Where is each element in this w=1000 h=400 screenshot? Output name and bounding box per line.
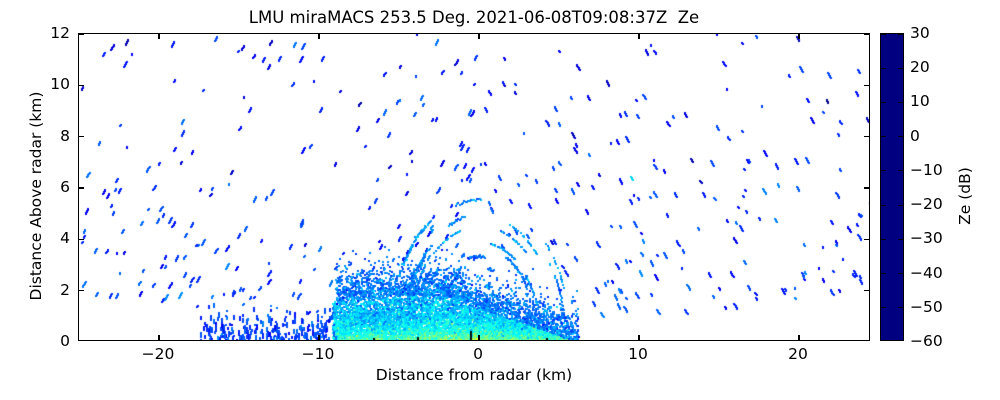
plot-area (78, 33, 870, 341)
y-axis-label: Distance Above radar (km) (27, 42, 45, 350)
x-axis-label: Distance from radar (km) (78, 366, 870, 384)
x-tick-mark (158, 34, 159, 39)
x-tick-mark (798, 34, 799, 39)
colorbar-tick-label: −40 (910, 264, 943, 282)
x-tick-label: −20 (142, 345, 175, 363)
colorbar-label: Ze (dB) (956, 42, 974, 350)
x-tick-mark (638, 335, 639, 340)
y-tick-mark (79, 187, 84, 188)
colorbar-tick-mark (881, 239, 886, 240)
colorbar-tick-mark (898, 273, 903, 274)
colorbar-tick-mark (898, 239, 903, 240)
colorbar-tick-mark (898, 307, 903, 308)
colorbar-tick-label: −60 (910, 332, 943, 350)
colorbar-tick-mark (881, 273, 886, 274)
y-tick-mark (79, 136, 84, 137)
colorbar-tick-mark (881, 136, 886, 137)
colorbar-tick-mark (898, 102, 903, 103)
colorbar-tick-mark (881, 68, 886, 69)
colorbar-tick-label: 20 (910, 58, 930, 76)
y-tick-mark (864, 187, 869, 188)
colorbar-tick-label: −20 (910, 195, 943, 213)
y-tick-label: 8 (60, 127, 70, 145)
colorbar-gradient (881, 34, 903, 340)
colorbar-tick-mark (898, 205, 903, 206)
x-tick-mark (318, 34, 319, 39)
colorbar-tick-label: 10 (910, 92, 930, 110)
y-tick-label: 6 (60, 178, 70, 196)
y-tick-label: 10 (50, 75, 70, 93)
x-tick-mark (318, 335, 319, 340)
y-tick-mark (864, 290, 869, 291)
x-tick-label: −10 (302, 345, 335, 363)
colorbar-tick-mark (898, 68, 903, 69)
x-tick-label: 20 (788, 345, 808, 363)
y-tick-mark (79, 290, 84, 291)
colorbar-tick-label: −50 (910, 298, 943, 316)
colorbar-tick-mark (898, 34, 903, 35)
radar-figure: LMU miraMACS 253.5 Deg. 2021-06-08T09:08… (0, 0, 1000, 400)
colorbar-tick-mark (881, 170, 886, 171)
y-tick-mark (864, 136, 869, 137)
x-tick-mark (478, 335, 479, 340)
x-tick-mark (798, 335, 799, 340)
y-tick-mark (79, 239, 84, 240)
y-tick-mark (864, 33, 869, 34)
colorbar-tick-mark (898, 136, 903, 137)
x-tick-mark (638, 34, 639, 39)
y-tick-mark (864, 239, 869, 240)
x-tick-label: 10 (628, 345, 648, 363)
colorbar-tick-mark (881, 307, 886, 308)
x-tick-label: 0 (473, 345, 483, 363)
colorbar-tick-mark (881, 34, 886, 35)
colorbar-tick-label: −10 (910, 161, 943, 179)
colorbar-tick-label: 30 (910, 24, 930, 42)
y-tick-label: 2 (60, 281, 70, 299)
colorbar-tick-mark (881, 205, 886, 206)
colorbar (880, 33, 904, 341)
colorbar-tick-label: −30 (910, 229, 943, 247)
y-tick-label: 0 (60, 332, 70, 350)
x-tick-mark (158, 335, 159, 340)
y-tick-label: 12 (50, 24, 70, 42)
y-tick-mark (864, 85, 869, 86)
scatter-canvas (79, 34, 870, 341)
colorbar-tick-mark (898, 170, 903, 171)
x-tick-mark (478, 34, 479, 39)
y-tick-label: 4 (60, 229, 70, 247)
y-tick-mark (79, 33, 84, 34)
page-title: LMU miraMACS 253.5 Deg. 2021-06-08T09:08… (78, 8, 870, 28)
colorbar-tick-label: 0 (910, 127, 920, 145)
y-tick-mark (79, 85, 84, 86)
colorbar-tick-mark (881, 102, 886, 103)
